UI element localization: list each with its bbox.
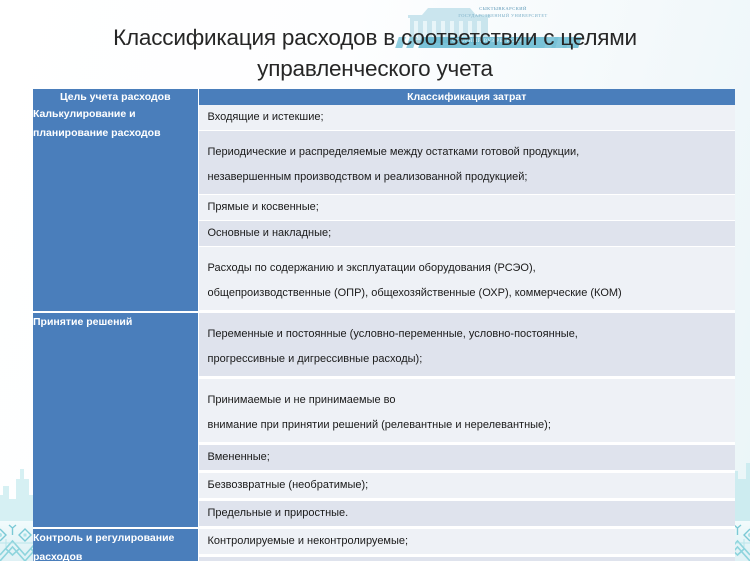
classification-line: внимание при принятии решений (релевантн… bbox=[208, 413, 730, 438]
classification-text: Расходы по содержанию и эксплуатации обо… bbox=[199, 247, 736, 311]
classification-cell: Расходы по содержанию и эксплуатации обо… bbox=[198, 247, 735, 312]
classification-text: Предельные и приростные. bbox=[199, 501, 736, 527]
goal-cell: Калькулирование и планирование расходов bbox=[33, 105, 198, 312]
classification-line: Предельные и приростные. bbox=[208, 507, 349, 519]
classification-line: Контролируемые и неконтролируемые; bbox=[208, 535, 409, 547]
classification-cell: Безвозвратные (необратимые); bbox=[198, 472, 735, 500]
goal-cell: Контроль и регулирование расходов bbox=[33, 528, 198, 561]
classification-line: Вмененные; bbox=[208, 451, 270, 463]
classification-line: Входящие и истекшие; bbox=[208, 111, 324, 123]
table-header-row: Цель учета расходов Классификация затрат bbox=[33, 89, 735, 105]
classification-text: Принимаемые и не принимаемые вовнимание … bbox=[199, 379, 736, 443]
goal-cell: Принятие решений bbox=[33, 312, 198, 528]
watermark-line-2: ГОСУДАРСТВЕННЫЙ УНИВЕРСИТЕТ bbox=[428, 13, 578, 19]
classification-line: Безвозвратные (необратимые); bbox=[208, 479, 369, 491]
cost-classification-table-wrapper: Цель учета расходов Классификация затрат… bbox=[33, 89, 735, 561]
classification-text: Входящие и истекшие; bbox=[199, 105, 736, 131]
classification-line: Переменные и постоянные (условно-перемен… bbox=[208, 322, 730, 347]
classification-text: Основные и накладные; bbox=[199, 221, 736, 247]
watermark-university-name: СЫКТЫВКАРСКИЙ ГОСУДАРСТВЕННЫЙ УНИВЕРСИТЕ… bbox=[428, 6, 578, 19]
table-group: Принятие решенийПеременные и постоянные … bbox=[33, 312, 735, 528]
classification-cell: Контролируемые и неконтролируемые; bbox=[198, 528, 735, 556]
table-group: Контроль и регулирование расходовКонтрол… bbox=[33, 528, 735, 561]
column-header-classification: Классификация затрат bbox=[198, 89, 735, 105]
classification-text: Переменные и постоянные (условно-перемен… bbox=[199, 313, 736, 377]
classification-line: Периодические и распределяемые между ост… bbox=[208, 140, 730, 165]
classification-line: Основные и накладные; bbox=[208, 227, 332, 239]
page-title: Классификация расходов в соответствии с … bbox=[40, 22, 710, 84]
table-row: Принятие решенийПеременные и постоянные … bbox=[33, 312, 735, 378]
classification-text: Контролируемые и неконтролируемые; bbox=[199, 529, 736, 555]
classification-line: общепроизводственные (ОПР), общехозяйств… bbox=[208, 281, 730, 306]
classification-cell: Основные и накладные; bbox=[198, 221, 735, 247]
classification-cell: Переменные и постоянные (условно-перемен… bbox=[198, 312, 735, 378]
classification-text: Безвозвратные (необратимые); bbox=[199, 473, 736, 499]
classification-text: Регулируемые нерегулируемые; bbox=[199, 557, 736, 561]
classification-line: прогрессивные и дигрессивные расходы); bbox=[208, 347, 730, 372]
table-group: Калькулирование и планирование расходовВ… bbox=[33, 105, 735, 312]
watermark-line-1: СЫКТЫВКАРСКИЙ bbox=[428, 6, 578, 13]
classification-text: Прямые и косвенные; bbox=[199, 195, 736, 221]
classification-cell: Вмененные; bbox=[198, 444, 735, 472]
cost-classification-table: Цель учета расходов Классификация затрат… bbox=[33, 89, 735, 561]
classification-line: незавершенным производством и реализован… bbox=[208, 165, 730, 190]
classification-cell: Входящие и истекшие; bbox=[198, 105, 735, 131]
classification-line: Принимаемые и не принимаемые во bbox=[208, 388, 730, 413]
classification-cell: Регулируемые нерегулируемые; bbox=[198, 556, 735, 561]
classification-cell: Предельные и приростные. bbox=[198, 500, 735, 528]
column-header-goal: Цель учета расходов bbox=[33, 89, 198, 105]
slide-canvas: СЫКТЫВКАРСКИЙ ГОСУДАРСТВЕННЫЙ УНИВЕРСИТЕ… bbox=[0, 0, 750, 561]
classification-text: Периодические и распределяемые между ост… bbox=[199, 131, 736, 195]
table-row: Калькулирование и планирование расходовВ… bbox=[33, 105, 735, 131]
classification-cell: Периодические и распределяемые между ост… bbox=[198, 131, 735, 195]
classification-cell: Прямые и косвенные; bbox=[198, 195, 735, 221]
classification-line: Прямые и косвенные; bbox=[208, 201, 319, 213]
classification-line: Расходы по содержанию и эксплуатации обо… bbox=[208, 256, 730, 281]
classification-text: Вмененные; bbox=[199, 445, 736, 471]
classification-cell: Принимаемые и не принимаемые вовнимание … bbox=[198, 378, 735, 444]
table-row: Контроль и регулирование расходовКонтрол… bbox=[33, 528, 735, 556]
